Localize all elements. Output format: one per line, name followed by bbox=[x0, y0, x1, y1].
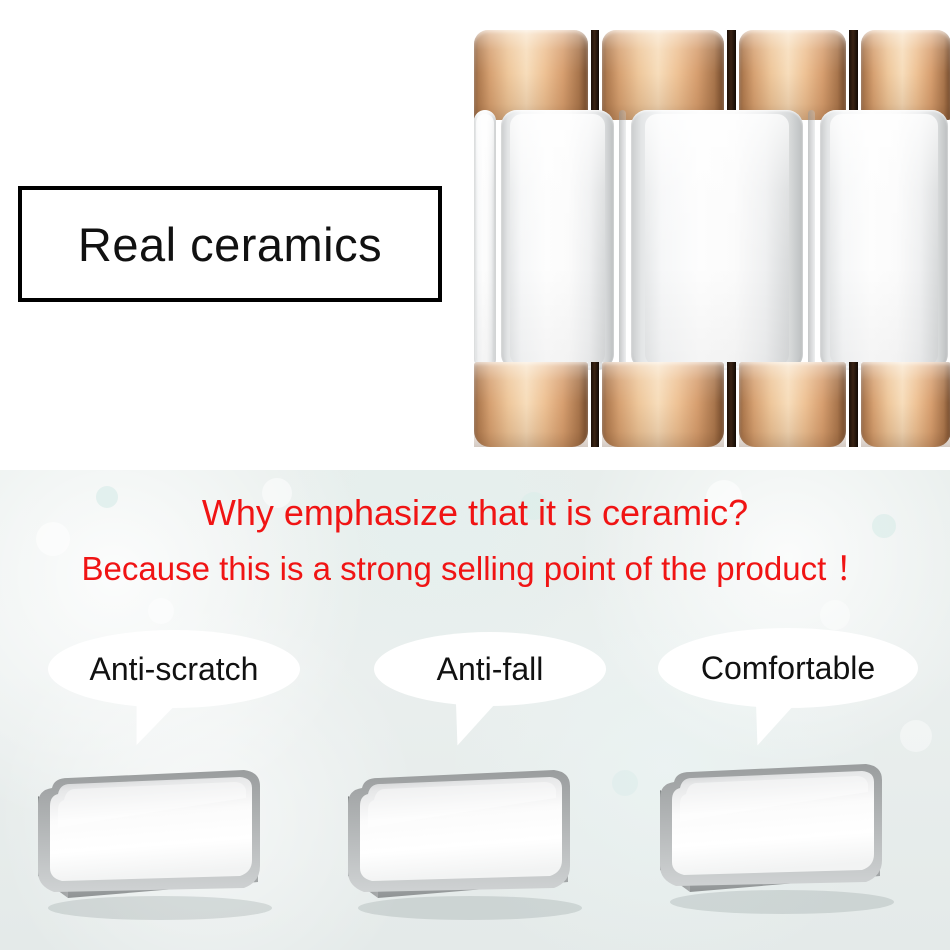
gold-link-gap bbox=[727, 30, 736, 120]
headline-secondary: Because this is a strong selling point o… bbox=[0, 542, 950, 590]
headline-primary: Why emphasize that it is ceramic? bbox=[0, 492, 950, 534]
watch-band-image bbox=[474, 0, 950, 450]
top-section: Real ceramics bbox=[0, 0, 950, 470]
bokeh-circle bbox=[612, 770, 638, 796]
gold-link bbox=[602, 362, 723, 447]
band-gold-row-top bbox=[474, 30, 950, 120]
band-ceramic-row bbox=[474, 110, 950, 370]
gold-link bbox=[474, 362, 588, 447]
gold-link-gap bbox=[849, 362, 858, 447]
gold-link bbox=[739, 30, 847, 120]
ceramic-link bbox=[820, 110, 948, 370]
ceramic-link-gap bbox=[619, 110, 626, 370]
gold-link bbox=[739, 362, 847, 447]
feature-bubble-comfortable: Comfortable bbox=[658, 628, 918, 708]
ceramic-link bbox=[501, 110, 614, 370]
ceramic-link bbox=[631, 110, 803, 370]
ceramic-link-edge bbox=[474, 110, 496, 370]
gold-link-gap bbox=[849, 30, 858, 120]
gold-link-gap bbox=[727, 362, 736, 447]
feature-bubble-label: Anti-fall bbox=[437, 651, 544, 688]
gold-link bbox=[602, 30, 723, 120]
feature-bubble-anti-fall: Anti-fall bbox=[374, 632, 606, 706]
real-ceramics-caption-text: Real ceramics bbox=[78, 217, 382, 272]
gold-link-gap bbox=[591, 30, 600, 120]
ceramic-link-gap bbox=[808, 110, 815, 370]
ceramic-tile-1 bbox=[28, 748, 276, 918]
product-infographic: Real ceramics Why emphasize that it is c… bbox=[0, 0, 950, 950]
bokeh-circle bbox=[900, 720, 932, 752]
band-gold-row-bottom bbox=[474, 362, 950, 447]
gold-link bbox=[861, 30, 950, 120]
feature-bubble-label: Comfortable bbox=[701, 650, 875, 687]
ceramic-tile-3 bbox=[650, 742, 898, 912]
ceramic-tile-2 bbox=[338, 748, 586, 918]
feature-bubble-anti-scratch: Anti-scratch bbox=[48, 630, 300, 708]
real-ceramics-caption-box: Real ceramics bbox=[18, 186, 442, 302]
feature-bubble-label: Anti-scratch bbox=[90, 651, 259, 688]
bokeh-circle bbox=[148, 598, 174, 624]
bokeh-circle bbox=[820, 600, 850, 630]
gold-link bbox=[861, 362, 950, 447]
gold-link-gap bbox=[591, 362, 600, 447]
gold-link bbox=[474, 30, 588, 120]
